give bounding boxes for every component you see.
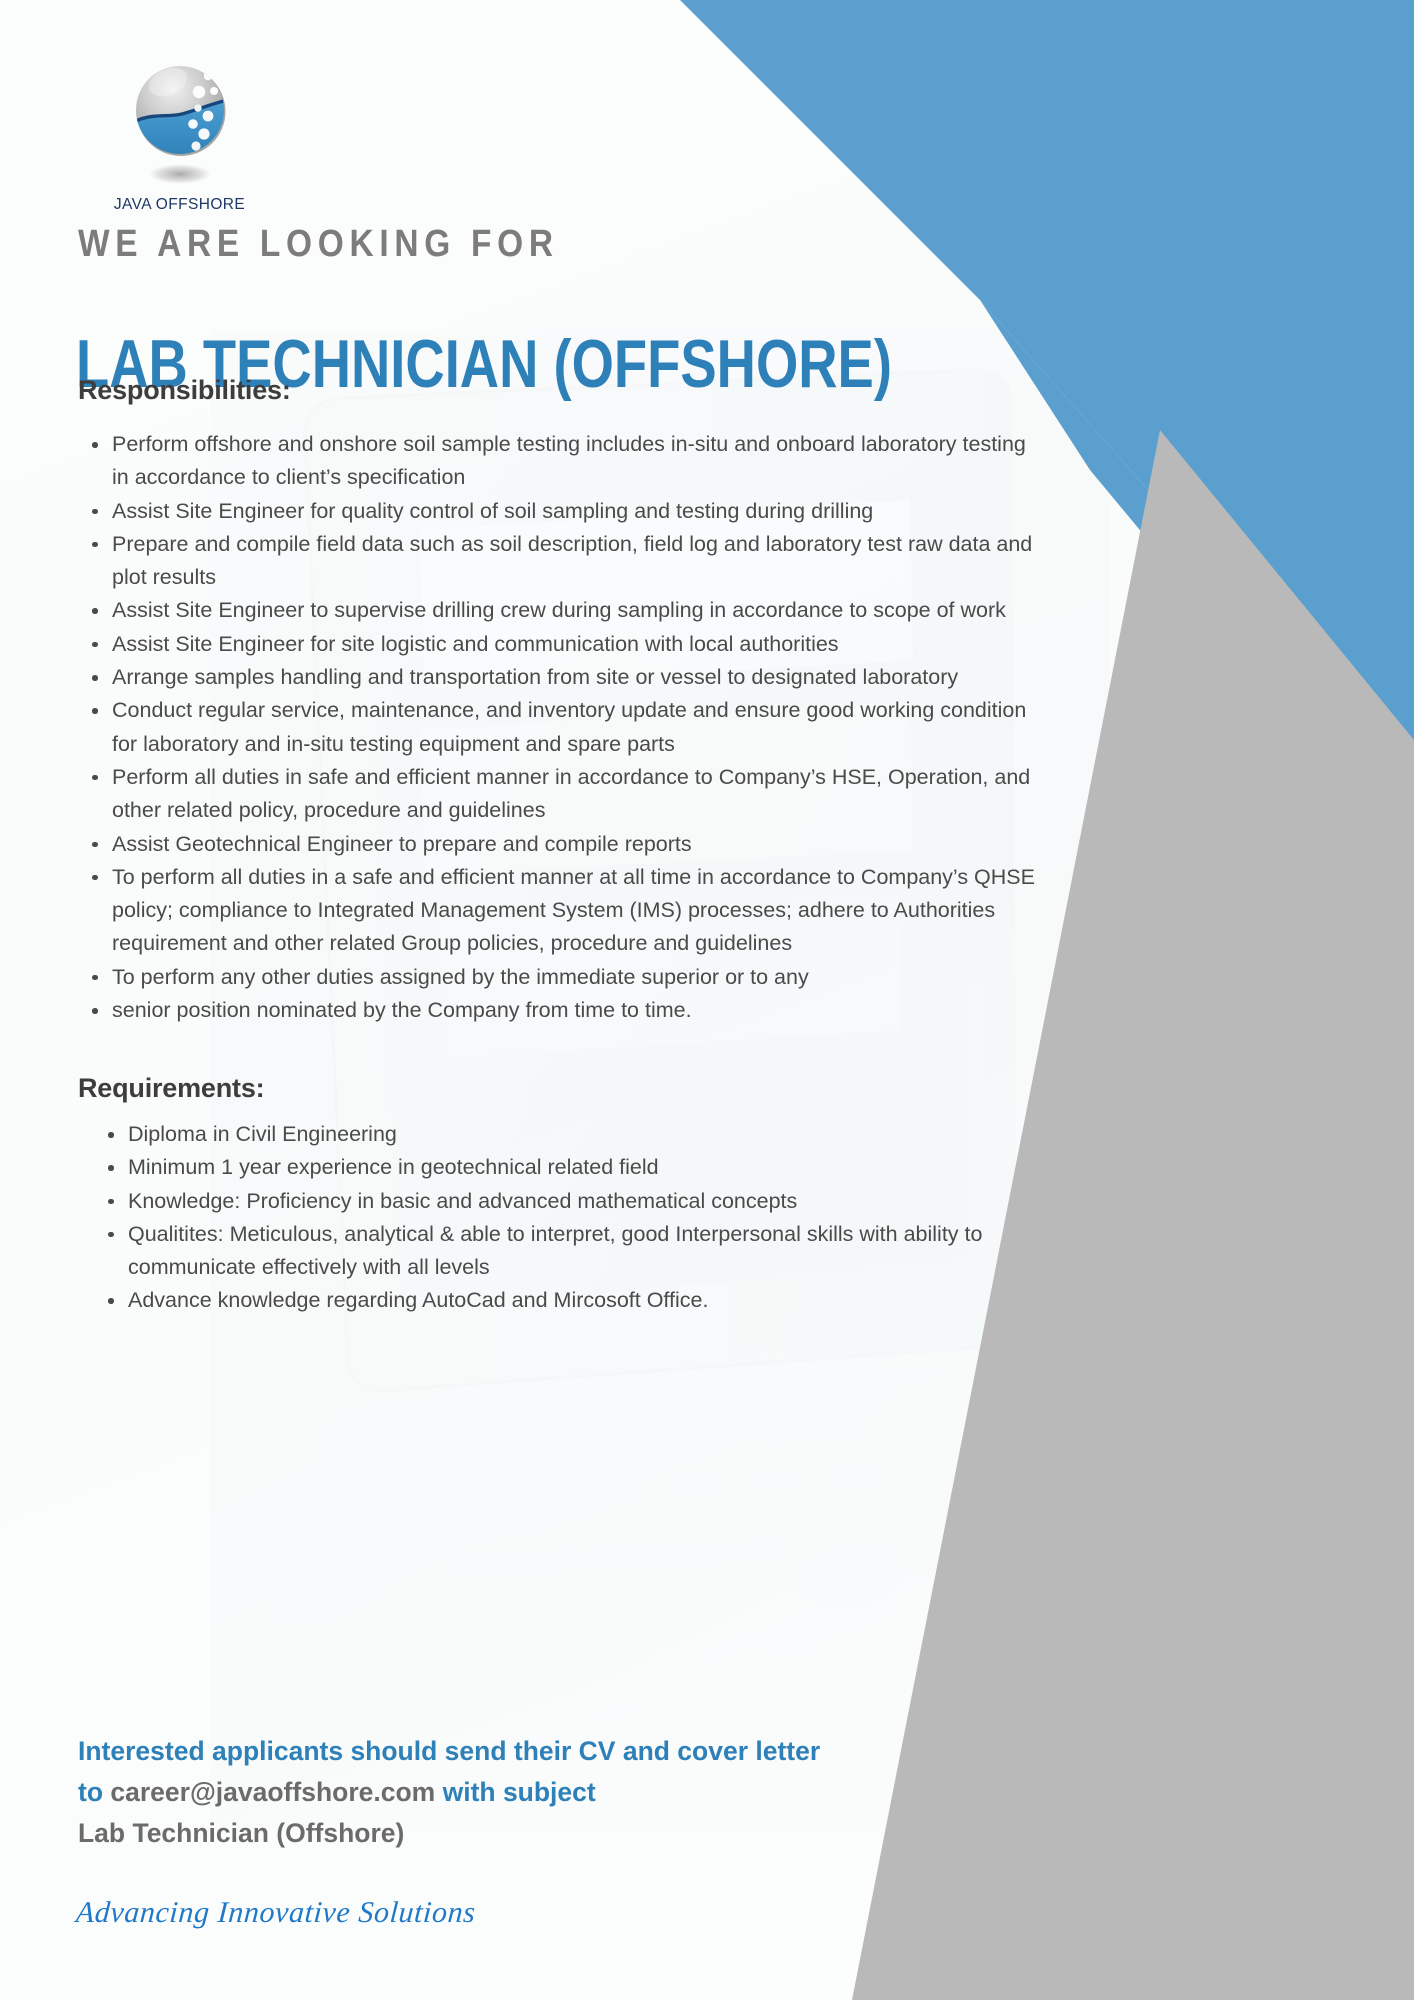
list-item: Advance knowledge regarding AutoCad and … xyxy=(96,1284,1026,1317)
responsibilities-heading: Responsibilities: xyxy=(78,375,291,406)
java-offshore-logo-icon xyxy=(120,52,240,202)
requirements-heading: Requirements: xyxy=(78,1073,264,1104)
job-poster: JAVA OFFSHORE WE ARE LOOKING FOR LAB TEC… xyxy=(0,0,1414,2000)
list-item: Diploma in Civil Engineering xyxy=(96,1118,1026,1151)
cta-text-part2: with subject xyxy=(435,1777,596,1807)
list-item: To perform any other duties assigned by … xyxy=(80,961,1040,994)
list-item: Minimum 1 year experience in geotechnica… xyxy=(96,1151,1026,1184)
application-instructions: Interested applicants should send their … xyxy=(78,1731,838,1854)
brand-logo-block: JAVA OFFSHORE xyxy=(72,52,287,214)
brand-wordmark: JAVA OFFSHORE xyxy=(72,196,287,214)
contact-email[interactable]: career@javaoffshore.com xyxy=(110,1777,435,1807)
company-tagline: Advancing Innovative Solutions xyxy=(75,1896,477,1930)
list-item: To perform all duties in a safe and effi… xyxy=(80,861,1040,961)
list-item: Conduct regular service, maintenance, an… xyxy=(80,694,1040,761)
list-item: Perform offshore and onshore soil sample… xyxy=(80,428,1040,495)
list-item: Assist Site Engineer to supervise drilli… xyxy=(80,594,1040,627)
list-item: Assist Site Engineer for quality control… xyxy=(80,495,1040,528)
email-subject-line: Lab Technician (Offshore) xyxy=(78,1818,404,1848)
list-item: senior position nominated by the Company… xyxy=(80,994,1040,1027)
list-item: Prepare and compile field data such as s… xyxy=(80,528,1040,595)
list-item: Perform all duties in safe and efficient… xyxy=(80,761,1040,828)
responsibilities-list: Perform offshore and onshore soil sample… xyxy=(80,428,1040,1027)
list-item: Knowledge: Proficiency in basic and adva… xyxy=(96,1185,1026,1218)
list-item: Assist Geotechnical Engineer to prepare … xyxy=(80,828,1040,861)
requirements-list: Diploma in Civil Engineering Minimum 1 y… xyxy=(96,1118,1026,1318)
list-item: Arrange samples handling and transportat… xyxy=(80,661,1040,694)
list-item: Qualitites: Meticulous, analytical & abl… xyxy=(96,1218,1026,1285)
kicker-text: WE ARE LOOKING FOR xyxy=(78,223,559,266)
list-item: Assist Site Engineer for site logistic a… xyxy=(80,628,1040,661)
